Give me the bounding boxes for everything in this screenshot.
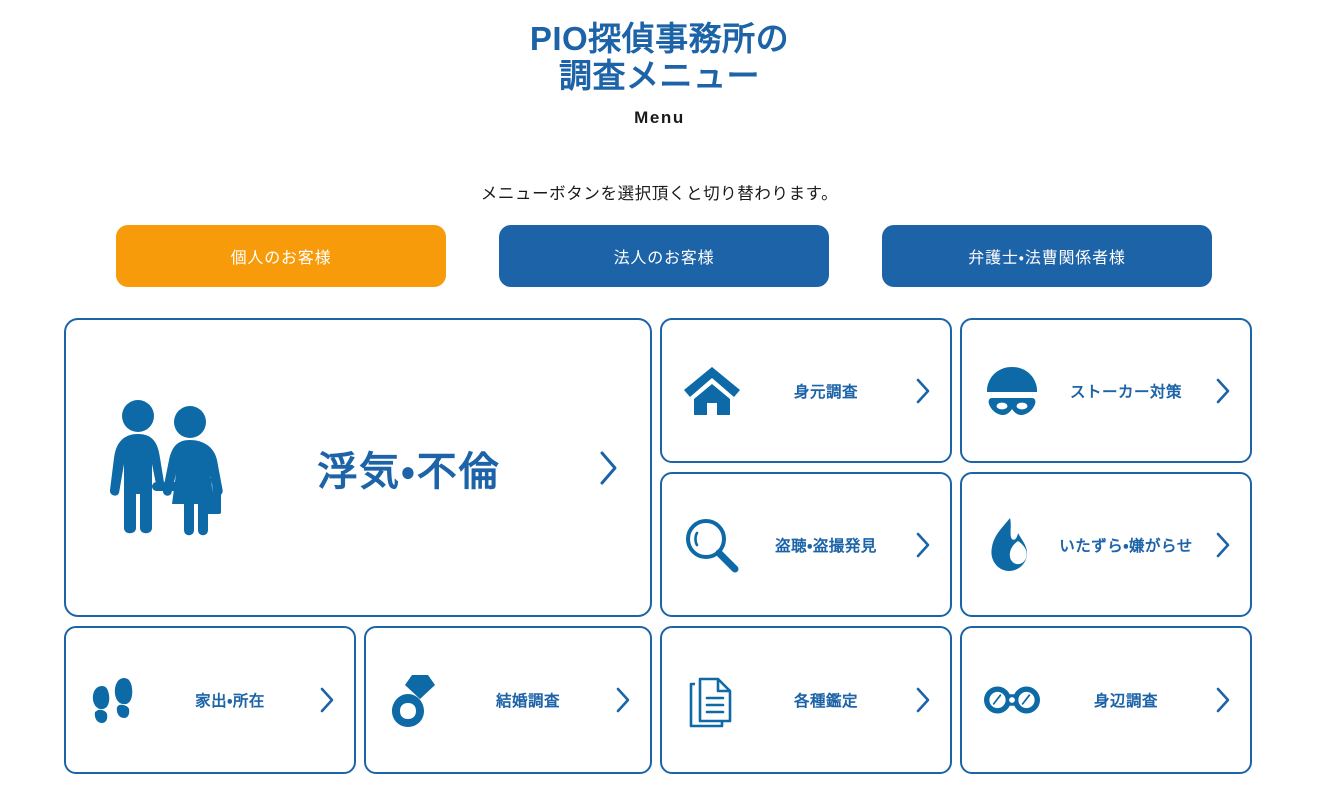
footprints-icon xyxy=(88,672,144,728)
card-identity-investigation[interactable]: 身元調査 xyxy=(660,318,952,463)
card-forensic-appraisal[interactable]: 各種鑑定 xyxy=(660,626,952,774)
magnifier-icon xyxy=(684,517,740,573)
service-card-grid: 浮気・不倫 身元調査 xyxy=(64,318,1252,772)
card-missing-person-search-label: 家出・所在 xyxy=(144,689,316,711)
card-identity-investigation-label: 身元調査 xyxy=(740,380,912,402)
card-bug-detection-label: 盗聴・盗撮発見 xyxy=(740,534,912,556)
instruction-text: メニューボタンを選択頂くと切り替わります。 xyxy=(0,180,1319,204)
card-bug-detection[interactable]: 盗聴・盗撮発見 xyxy=(660,472,952,617)
chevron-right-icon xyxy=(912,685,934,715)
couple-icon xyxy=(106,398,226,538)
page-title-line-2: 調査メニュー xyxy=(0,57,1319,94)
chevron-right-icon xyxy=(1212,685,1234,715)
chevron-right-icon xyxy=(1212,376,1234,406)
chevron-right-icon xyxy=(612,685,634,715)
card-affair-investigation[interactable]: 浮気・不倫 xyxy=(64,318,652,617)
documents-icon xyxy=(684,672,740,728)
diamond-ring-icon xyxy=(388,672,444,728)
tab-individual-customers[interactable]: 個人のお客様 xyxy=(116,225,446,287)
card-missing-person-search[interactable]: 家出・所在 xyxy=(64,626,356,774)
masked-thief-icon xyxy=(984,363,1040,419)
audience-tabs: 個人のお客様 法人のお客様 弁護士・法曹関係者様 xyxy=(116,225,1212,287)
page-header: PIO探偵事務所の 調査メニュー Menu xyxy=(0,0,1319,128)
card-background-surveillance[interactable]: 身辺調査 xyxy=(960,626,1252,774)
tab-legal-professionals-label: 弁護士・法曹関係者様 xyxy=(968,244,1125,268)
tab-corporate-customers[interactable]: 法人のお客様 xyxy=(499,225,829,287)
page-title: PIO探偵事務所の 調査メニュー xyxy=(0,20,1319,94)
page-subtitle-en: Menu xyxy=(0,108,1319,128)
chevron-right-icon xyxy=(912,530,934,560)
tab-corporate-customers-label: 法人のお客様 xyxy=(614,244,715,268)
house-icon xyxy=(684,363,740,419)
page-title-line-1: PIO探偵事務所の xyxy=(0,20,1319,57)
binoculars-icon xyxy=(984,672,1040,728)
card-marriage-investigation[interactable]: 結婚調査 xyxy=(364,626,652,774)
card-harassment-investigation[interactable]: いたずら・嫌がらせ xyxy=(960,472,1252,617)
chevron-right-icon xyxy=(316,685,338,715)
chevron-right-icon xyxy=(1212,530,1234,560)
card-background-surveillance-label: 身辺調査 xyxy=(1040,689,1212,711)
card-forensic-appraisal-label: 各種鑑定 xyxy=(740,689,912,711)
menu-page: PIO探偵事務所の 調査メニュー Menu メニューボタンを選択頂くと切り替わり… xyxy=(0,0,1319,792)
card-stalker-countermeasures[interactable]: ストーカー対策 xyxy=(960,318,1252,463)
tab-individual-customers-label: 個人のお客様 xyxy=(231,244,332,268)
card-harassment-investigation-label: いたずら・嫌がらせ xyxy=(1040,534,1212,556)
card-marriage-investigation-label: 結婚調査 xyxy=(444,689,612,711)
chevron-right-icon xyxy=(592,446,626,490)
card-stalker-countermeasures-label: ストーカー対策 xyxy=(1040,380,1212,402)
chevron-right-icon xyxy=(912,376,934,406)
tab-legal-professionals[interactable]: 弁護士・法曹関係者様 xyxy=(882,225,1212,287)
flame-icon xyxy=(984,517,1040,573)
card-affair-investigation-label: 浮気・不倫 xyxy=(226,439,592,497)
